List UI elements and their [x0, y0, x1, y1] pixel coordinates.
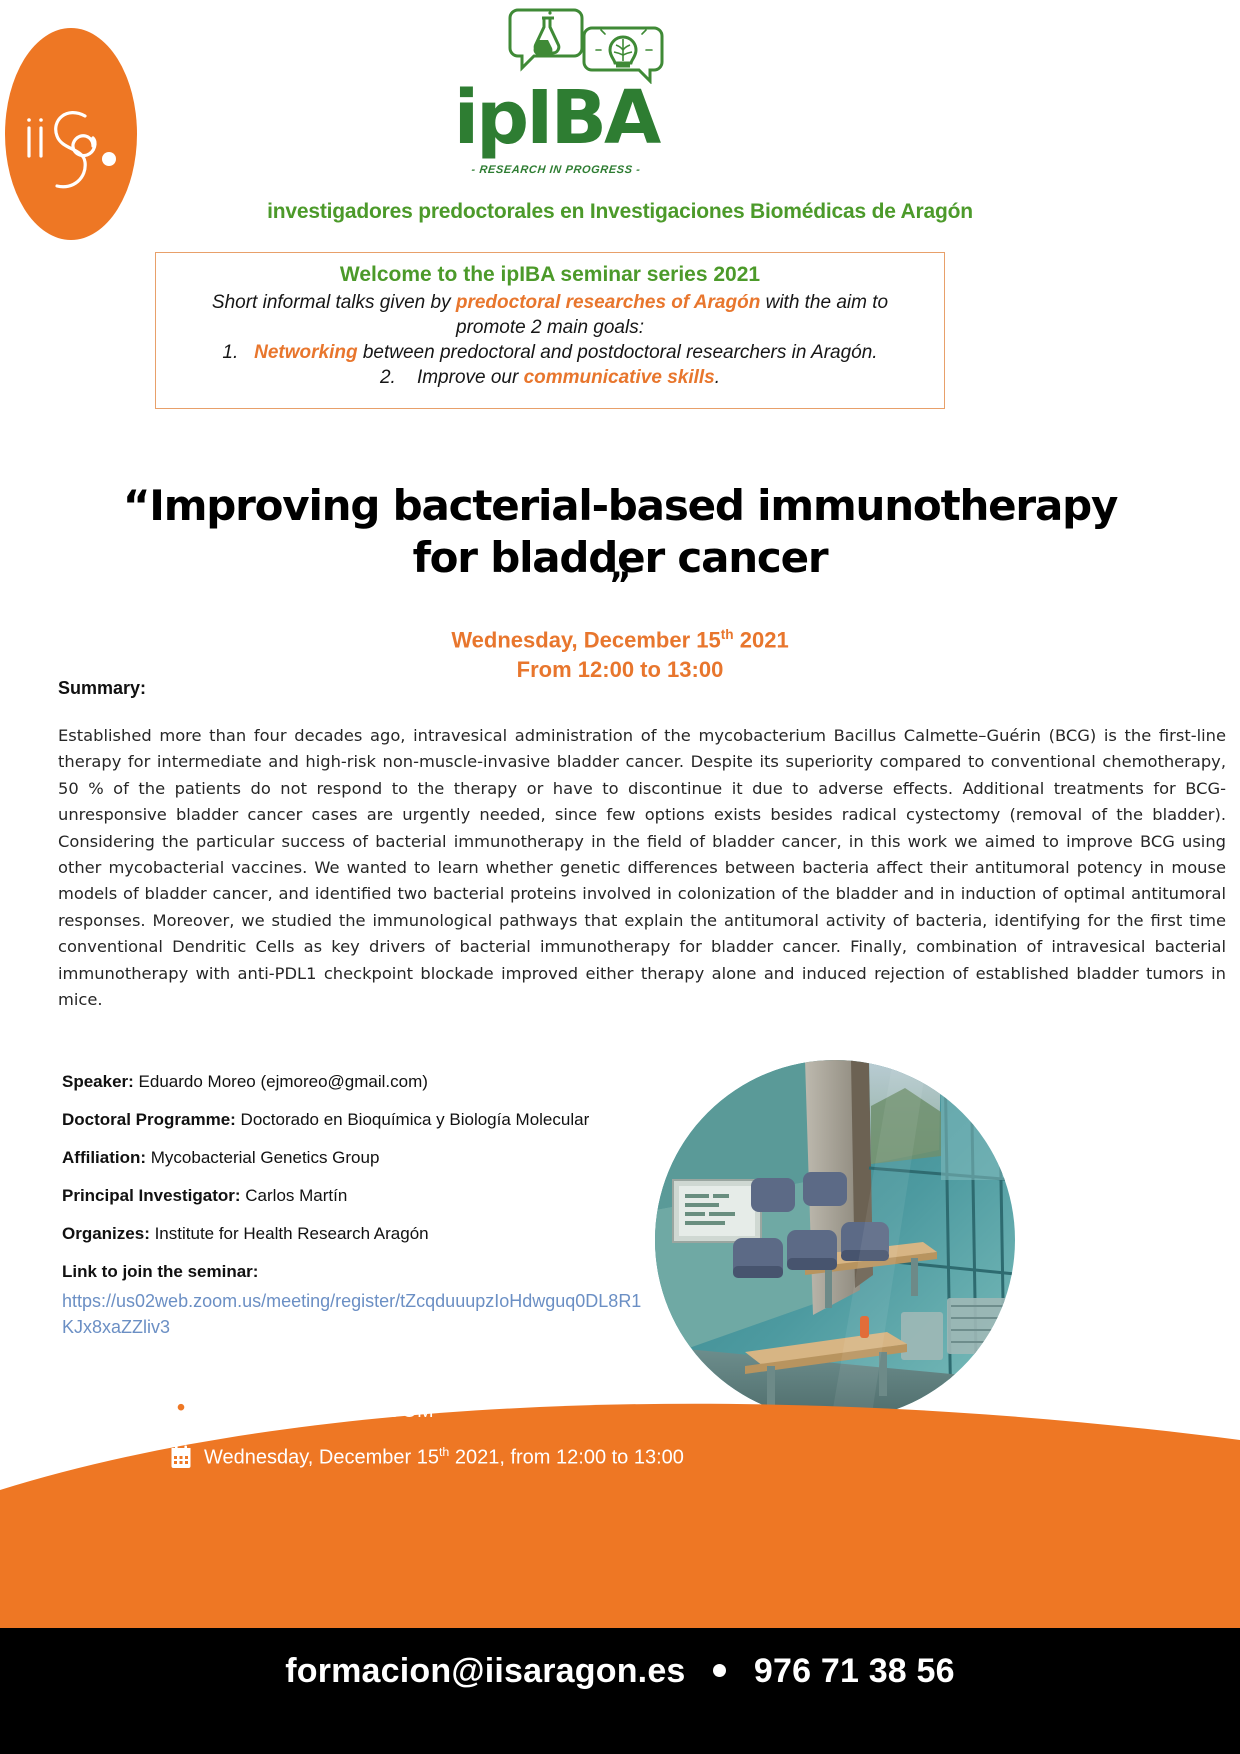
- welcome-goal-2-post: .: [715, 367, 720, 388]
- footer-date-line: Wednesday, December 15th 2021, from 12:0…: [170, 1444, 870, 1470]
- lecture-hall-photo: [655, 1060, 1015, 1420]
- footer-date-text: Wednesday, December 15th 2021, from 12:0…: [204, 1445, 684, 1470]
- organizes-label: Organizes:: [62, 1224, 150, 1243]
- detail-row-organizes: Organizes: Institute for Health Research…: [62, 1224, 662, 1244]
- contact-bar: [0, 1628, 1240, 1754]
- welcome-goals-list: 1. Networking between predoctoral and po…: [170, 340, 930, 390]
- seminar-poster: ipIBA - RESEARCH IN PROGRESS - investiga…: [0, 0, 1240, 1754]
- summary-body: Established more than four decades ago, …: [58, 723, 1226, 1013]
- welcome-goal-item-2: 2. Improve our communicative skills.: [170, 365, 930, 390]
- welcome-goal-1-number: 1.: [222, 342, 238, 363]
- speaker-value: Eduardo Moreo (ejmoreo@gmail.com): [134, 1072, 428, 1091]
- organization-subtitle: investigadores predoctorales en Investig…: [0, 200, 1240, 224]
- pi-value: Carlos Martín: [241, 1186, 348, 1205]
- footer-date-part2: 2021, from 12:00 to 13:00: [449, 1446, 684, 1468]
- detail-row-affiliation: Affiliation: Mycobacterial Genetics Grou…: [62, 1148, 662, 1168]
- detail-row-speaker: Speaker: Eduardo Moreo (ejmoreo@gmail.co…: [62, 1072, 662, 1092]
- welcome-intro: Short informal talks given by predoctora…: [170, 290, 930, 340]
- welcome-goal-1-rest: between predoctoral and postdoctoral res…: [358, 342, 878, 363]
- welcome-intro-part2: with the aim to: [760, 292, 888, 313]
- welcome-box: Welcome to the ipIBA seminar series 2021…: [155, 252, 945, 409]
- contact-phone[interactable]: 976 71 38 56: [754, 1652, 955, 1690]
- programme-label: Doctoral Programme:: [62, 1110, 236, 1129]
- welcome-intro-highlight: predoctoral researches of Aragón: [456, 292, 760, 313]
- talk-date-text: Wednesday, December 15: [451, 627, 720, 652]
- organizes-value: Institute for Health Research Aragón: [150, 1224, 429, 1243]
- talk-date-ordinal: th: [721, 627, 734, 642]
- talk-time: From 12:00 to 13:00: [120, 655, 1120, 685]
- footer-location-line: Virtual meeting via ZOOM: [170, 1398, 870, 1424]
- affiliation-label: Affiliation:: [62, 1148, 146, 1167]
- talk-date-year: 2021: [734, 627, 789, 652]
- welcome-goal-1-highlight: Networking: [254, 342, 357, 363]
- welcome-goal-2-pre: Improve our: [417, 367, 524, 388]
- details-block: Speaker: Eduardo Moreo (ejmoreo@gmail.co…: [62, 1072, 662, 1340]
- seminar-zoom-link[interactable]: https://us02web.zoom.us/meeting/register…: [62, 1288, 647, 1340]
- speaker-label: Speaker:: [62, 1072, 134, 1091]
- welcome-title: Welcome to the ipIBA seminar series 2021: [170, 263, 930, 287]
- welcome-intro-part1: Short informal talks given by: [212, 292, 456, 313]
- seminar-link-label: Link to join the seminar:: [62, 1262, 662, 1282]
- detail-row-programme: Doctoral Programme: Doctorado en Bioquím…: [62, 1110, 662, 1130]
- ipiba-tagline: - RESEARCH IN PROGRESS -: [419, 164, 692, 176]
- detail-row-principal-investigator: Principal Investigator: Carlos Martín: [62, 1186, 662, 1206]
- talk-title-closing-quote: ”: [120, 565, 1120, 605]
- talk-datetime: Wednesday, December 15th 2021 From 12:00…: [120, 620, 1120, 685]
- location-pin-icon: [170, 1398, 192, 1424]
- footer-date-part1: Wednesday, December 15: [204, 1446, 439, 1468]
- footer-location-text: Virtual meeting via ZOOM: [204, 1400, 434, 1423]
- calendar-icon: [170, 1444, 192, 1470]
- ipiba-wordmark: ipIBA: [420, 80, 692, 156]
- pi-label: Principal Investigator:: [62, 1186, 241, 1205]
- welcome-intro-line2: promote 2 main goals:: [170, 315, 930, 340]
- programme-value: Doctorado en Bioquímica y Biología Molec…: [236, 1110, 589, 1129]
- contact-info: formacion@iisaragon.es 976 71 38 56: [0, 1652, 1240, 1691]
- summary-label: Summary:: [58, 678, 146, 699]
- welcome-goal-2-number: 2.: [380, 367, 396, 388]
- ipiba-logo: ipIBA - RESEARCH IN PROGRESS -: [420, 2, 692, 194]
- talk-date: Wednesday, December 15th 2021: [120, 620, 1120, 655]
- welcome-goal-2-highlight: communicative skills: [524, 367, 715, 388]
- welcome-goal-item-1: 1. Networking between predoctoral and po…: [170, 340, 930, 365]
- footer-date-ordinal: th: [439, 1445, 449, 1459]
- footer-info: Virtual meeting via ZOOM Wednesday, Dece…: [170, 1398, 870, 1490]
- separator-dot-icon: [713, 1664, 726, 1677]
- affiliation-value: Mycobacterial Genetics Group: [146, 1148, 379, 1167]
- contact-email[interactable]: formacion@iisaragon.es: [285, 1652, 685, 1690]
